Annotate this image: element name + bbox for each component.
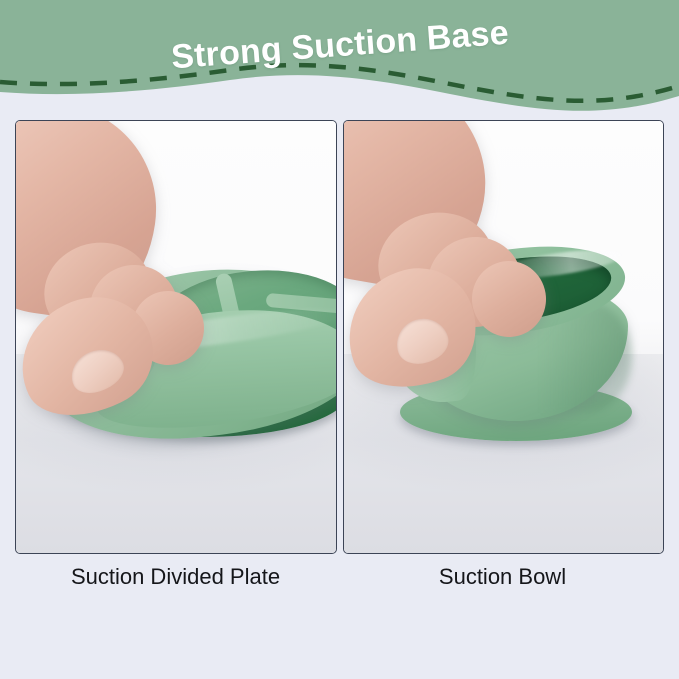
product-photo-suction-bowl [344,121,664,553]
photo-panel-suction-divided-plate [15,120,337,554]
product-photo-divided-plate [16,121,336,553]
product-photo-panels [15,120,664,552]
hand-lifting-plate [16,121,246,415]
caption-suction-bowl: Suction Bowl [342,562,663,592]
banner-wave-shape [0,0,679,125]
banner-fill [0,0,679,111]
panel-captions: Suction Divided Plate Suction Bowl [15,562,664,592]
photo-panel-suction-bowl [343,120,665,554]
caption-suction-divided-plate: Suction Divided Plate [15,562,336,592]
hand-pulling-bowl [344,121,562,391]
header-banner: Strong Suction Base [0,0,679,125]
